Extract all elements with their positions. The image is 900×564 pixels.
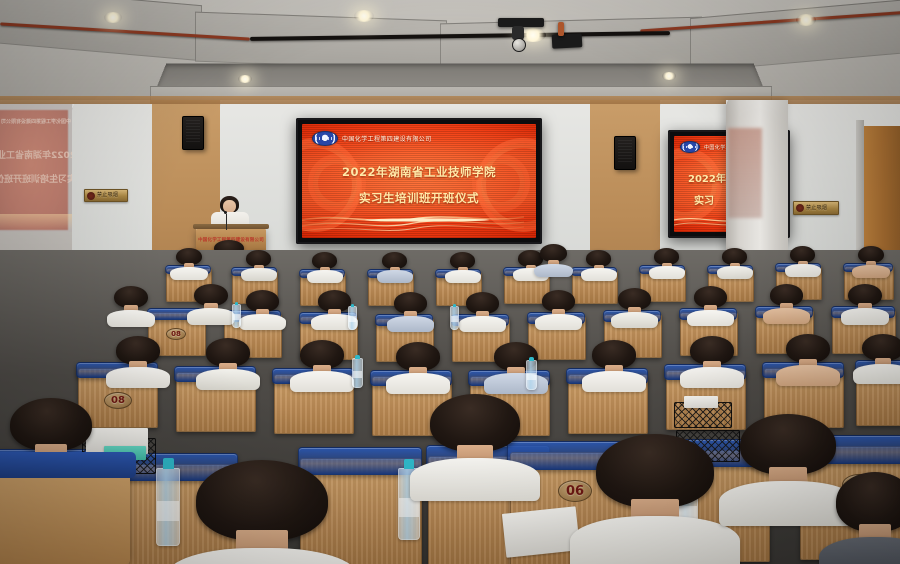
document-paper (502, 506, 580, 557)
auditorium-photo: 中国化学工程第四建设有限公司 2022年湖南省工业技师学院 实习生培训班开班仪式… (0, 0, 900, 564)
attendee (722, 248, 747, 275)
water-bottle (232, 304, 241, 328)
attendee (542, 290, 575, 325)
attendee (396, 342, 440, 388)
attendee (862, 334, 900, 378)
attendee-shirt (570, 516, 740, 564)
attendee (246, 250, 271, 277)
attendee-foreground (740, 414, 836, 512)
screen-title-line1: 2022年湖南省工业技师学院 (302, 164, 536, 180)
attendee-foreground (596, 434, 714, 554)
downlight (796, 14, 816, 26)
attendee (206, 338, 250, 384)
attendee (540, 244, 567, 273)
seat-number-plate: 08 (166, 328, 186, 340)
mirror-corp-name: 中国化学工程第四建设有限公司 (0, 118, 76, 125)
water-bottle (450, 306, 459, 330)
attendee (194, 284, 228, 320)
attendee-foreground (196, 460, 328, 564)
attendee (394, 292, 427, 327)
main-led-screen: 中国化学工程第四建设有限公司 2022年湖南省工业技师学院 实习生培训班开班仪式 (296, 118, 542, 244)
attendee (618, 288, 651, 323)
screen-logo-row: 中国化学工程第四建设有限公司 (312, 131, 432, 146)
downlight (238, 75, 252, 83)
attendee (592, 340, 636, 386)
seat-number: 06 (566, 485, 584, 498)
wall-speaker-right (614, 136, 636, 170)
attendee (466, 292, 499, 327)
projector-icon (552, 33, 583, 49)
attendee (300, 340, 344, 386)
no-smoking-sign-right: 禁止吸烟 (793, 201, 839, 215)
screen-corporate-name: 中国化学工程第四建设有限公司 (342, 134, 432, 143)
projector-arm-icon (558, 22, 564, 36)
no-smoking-label: 禁止吸烟 (97, 193, 118, 198)
water-bottle (352, 358, 363, 388)
attendee (246, 290, 279, 325)
downlight (354, 10, 374, 22)
attendee (790, 246, 815, 273)
seat-row-near: 06 05 (0, 420, 900, 564)
attendee (382, 252, 407, 279)
downlight (104, 12, 122, 23)
attendee-hair (596, 434, 714, 508)
attendee (690, 336, 734, 382)
pillar-screen-reflection (728, 128, 762, 218)
attendee (176, 248, 202, 276)
attendee (654, 248, 679, 275)
company-emblem-icon (312, 131, 338, 146)
seat-number-plate: 06 (558, 480, 592, 502)
attendee (858, 246, 884, 274)
wave-lines-icon (302, 204, 524, 238)
downlight (662, 72, 676, 80)
attendee (450, 252, 475, 279)
attendee (848, 284, 882, 320)
attendee (318, 290, 351, 325)
seat-number-plate: 08 (104, 392, 132, 409)
attendee (786, 334, 830, 380)
document-paper (684, 396, 718, 408)
attendee-foreground (836, 472, 900, 564)
attendee (586, 250, 611, 277)
water-bottle (526, 360, 537, 390)
spotlight-lens-icon (512, 38, 526, 52)
attendee (694, 286, 727, 321)
water-bottle (156, 468, 180, 546)
attendee (114, 286, 148, 322)
attendee-hair (196, 460, 328, 541)
wall-speaker-left (182, 116, 204, 150)
no-smoking-icon (796, 204, 804, 212)
main-led-screen-content: 中国化学工程第四建设有限公司 2022年湖南省工业技师学院 实习生培训班开班仪式 (302, 124, 536, 238)
company-emblem-icon (680, 141, 700, 153)
attendee-foreground (430, 394, 520, 488)
podium-top-edge (193, 224, 269, 229)
no-smoking-label: 禁止吸烟 (806, 206, 827, 211)
seat-number: 08 (171, 331, 181, 338)
attendee (312, 252, 337, 279)
microphone-icon (224, 211, 227, 214)
no-smoking-sign-left: 禁止吸烟 (84, 189, 128, 202)
microphone-stand (226, 214, 227, 230)
water-bottle (348, 306, 357, 330)
no-smoking-icon (87, 192, 95, 200)
seat-number: 08 (111, 396, 125, 406)
mirror-title-line2: 实习生培训班开班仪式 (0, 172, 76, 185)
attendee (770, 284, 803, 319)
foreground-seat-left (0, 452, 130, 564)
screen-wave-decoration (302, 204, 536, 238)
mirror-title-line1: 2022年湖南省工业技师学院 (0, 148, 76, 161)
attendee (116, 336, 160, 382)
